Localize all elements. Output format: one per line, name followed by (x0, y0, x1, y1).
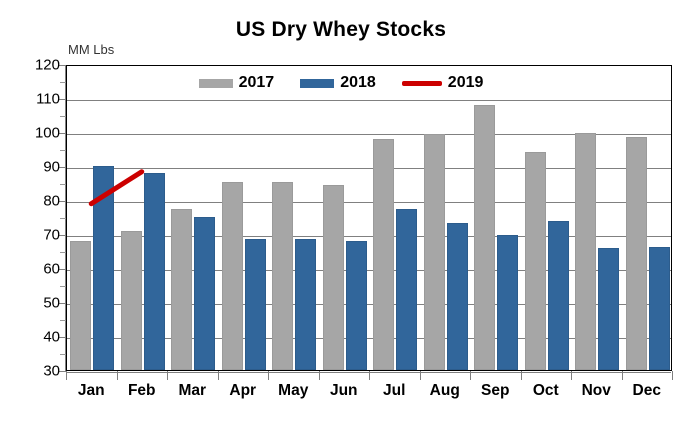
bar-2017-mar (171, 209, 192, 370)
y-axis-tick-label: 120 (16, 57, 60, 74)
x-axis-tick-label-feb: Feb (128, 382, 156, 400)
y-axis-tick-label: 100 (16, 125, 60, 142)
bar-2018-feb (144, 173, 165, 370)
x-axis-tick-labels: JanFebMarAprMayJunJulAugSepOctNovDec (66, 382, 672, 408)
chart-container: US Dry Whey Stocks MM Lbs 12011010090807… (0, 0, 682, 430)
y-axis-tick-label: 90 (16, 159, 60, 176)
x-axis-tick-mark (218, 371, 219, 380)
bar-2017-jun (323, 185, 344, 370)
y-axis-tick-label: 50 (16, 295, 60, 312)
x-axis-tick-label-mar: Mar (178, 382, 206, 400)
y-axis-tick-label: 40 (16, 329, 60, 346)
y-axis-tick-label: 110 (16, 91, 60, 108)
x-axis-tick-label-may: May (278, 382, 308, 400)
plot-area (66, 65, 672, 371)
bar-2018-jun (346, 241, 367, 370)
x-axis-tick-marks (66, 371, 672, 380)
x-axis-tick-mark (167, 371, 168, 380)
bar-2018-jan (93, 166, 114, 370)
bar-2017-feb (121, 231, 142, 370)
x-axis-tick-mark (117, 371, 118, 380)
bar-2018-sep (497, 235, 518, 370)
bar-2018-nov (598, 248, 619, 370)
x-axis-tick-mark (571, 371, 572, 380)
x-axis-tick-mark (672, 371, 673, 380)
x-axis-tick-mark (521, 371, 522, 380)
x-axis-tick-mark (66, 371, 67, 380)
bar-2017-jul (373, 139, 394, 370)
x-axis-tick-label-jan: Jan (78, 382, 105, 400)
x-axis-tick-label-aug: Aug (430, 382, 460, 400)
bar-2018-mar (194, 217, 215, 370)
bar-2017-apr (222, 182, 243, 370)
bar-2018-oct (548, 221, 569, 370)
bar-2018-jul (396, 209, 417, 371)
bar-2017-aug (424, 134, 445, 370)
x-axis-tick-label-jul: Jul (383, 382, 405, 400)
y-axis-tick-label: 60 (16, 261, 60, 278)
chart-title: US Dry Whey Stocks (0, 18, 682, 42)
y-axis-tick-label: 70 (16, 227, 60, 244)
bar-2017-oct (525, 152, 546, 370)
y-axis-tick-labels: 12011010090807060504030 (8, 65, 60, 371)
bar-2017-jan (70, 241, 91, 370)
bar-2017-dec (626, 137, 647, 370)
bar-2018-aug (447, 223, 468, 370)
gridline (67, 100, 671, 101)
x-axis-tick-label-jun: Jun (330, 382, 358, 400)
x-axis-tick-label-dec: Dec (633, 382, 661, 400)
x-axis-tick-mark (369, 371, 370, 380)
y-axis-tick-label: 30 (16, 363, 60, 380)
x-axis-tick-mark (268, 371, 269, 380)
x-axis-tick-mark (319, 371, 320, 380)
x-axis-tick-mark (622, 371, 623, 380)
y-axis-tick-label: 80 (16, 193, 60, 210)
x-axis-tick-label-apr: Apr (229, 382, 256, 400)
x-axis-tick-label-sep: Sep (481, 382, 509, 400)
x-axis-tick-mark (470, 371, 471, 380)
bar-2017-may (272, 182, 293, 370)
bar-2017-sep (474, 105, 495, 370)
bar-2018-may (295, 239, 316, 370)
x-axis-tick-label-oct: Oct (533, 382, 559, 400)
y-axis-unit-label: MM Lbs (68, 42, 114, 57)
bar-2017-nov (575, 133, 596, 370)
x-axis-tick-label-nov: Nov (582, 382, 611, 400)
x-axis-tick-mark (420, 371, 421, 380)
bar-2018-apr (245, 239, 266, 370)
bar-2018-dec (649, 247, 670, 370)
